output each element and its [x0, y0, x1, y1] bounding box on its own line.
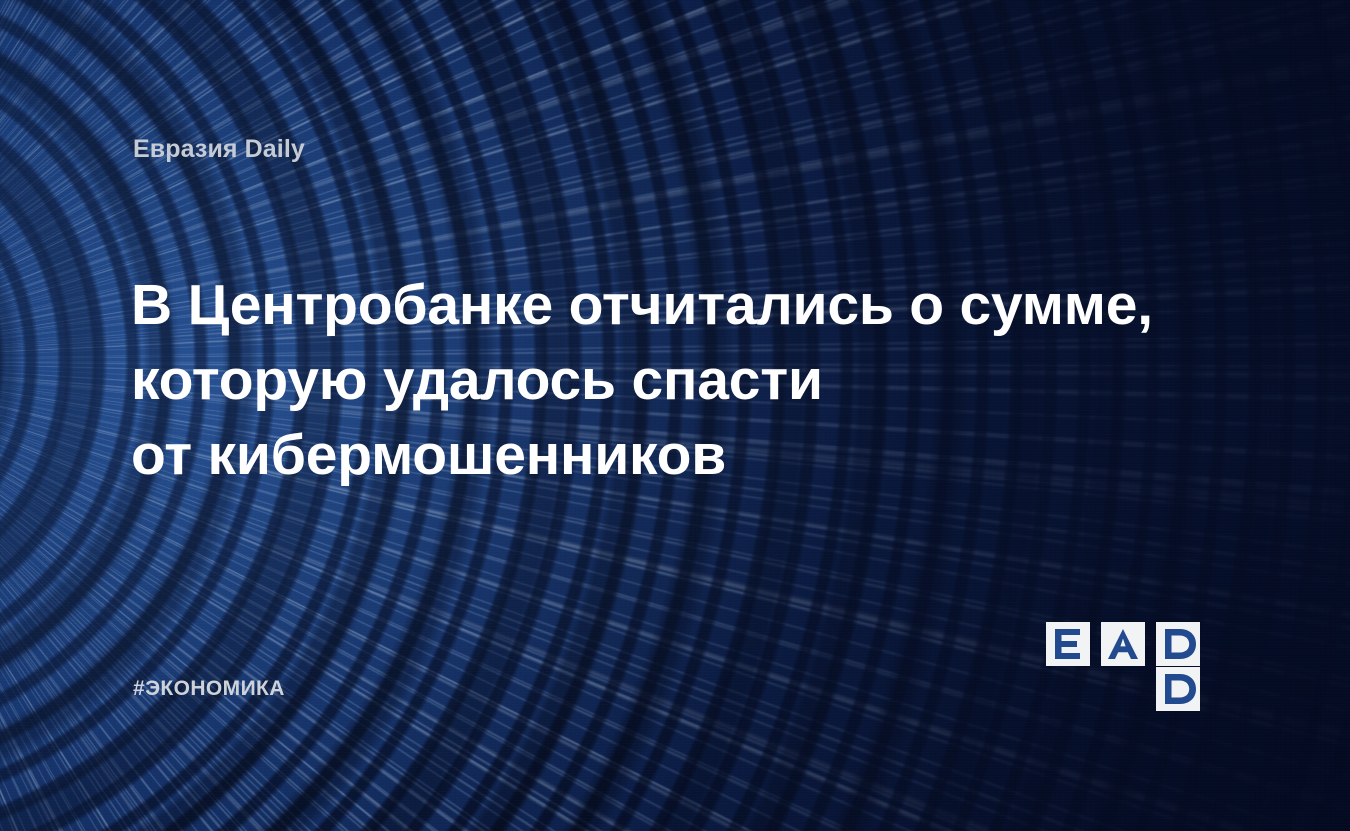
card-content: Евразия Daily В Центробанке отчитались о…: [0, 0, 1350, 831]
eadaily-logo: [1046, 622, 1221, 708]
logo-tile-a: [1101, 622, 1145, 666]
headline-line-3: от кибермошенников: [131, 418, 1161, 493]
social-share-card: Евразия Daily В Центробанке отчитались о…: [0, 0, 1350, 831]
logo-letter-e-icon: [1055, 629, 1081, 659]
category-hashtag: #ЭКОНОМИКА: [133, 678, 285, 699]
logo-tile-d-bottom: [1156, 667, 1200, 711]
headline-line-2: которую удалось спасти: [131, 343, 1161, 418]
logo-letter-d-bottom-icon: [1156, 667, 1200, 711]
logo-letter-a-icon: [1108, 629, 1138, 659]
publication-brand: Евразия Daily: [133, 137, 305, 162]
logo-tile-d-top: [1156, 622, 1200, 666]
headline: В Центробанке отчитались о сумме, котору…: [131, 268, 1161, 493]
logo-tile-e: [1046, 622, 1090, 666]
headline-line-1: В Центробанке отчитались о сумме,: [131, 268, 1161, 343]
logo-letter-d-top-icon: [1156, 622, 1200, 666]
